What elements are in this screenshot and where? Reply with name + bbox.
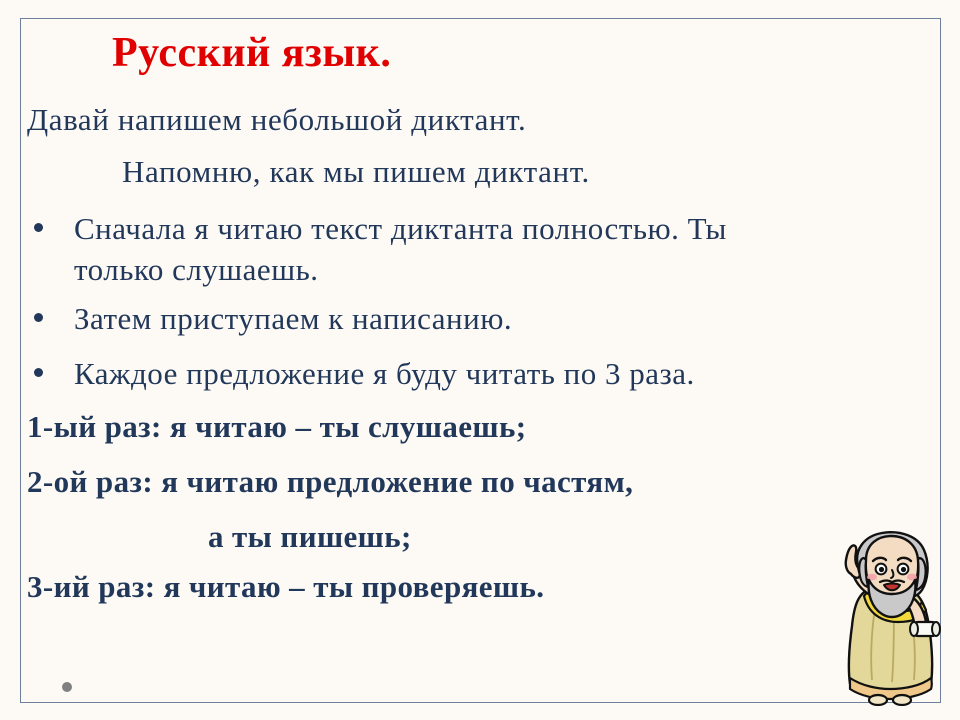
- paragraph-intro: Давай напишем небольшой диктант.: [27, 100, 526, 140]
- list-item-line-2: только слушаешь.: [74, 249, 894, 290]
- bold-line-third-reading: 3-ий раз: я читаю – ты проверяешь.: [27, 567, 544, 607]
- bold-line-second-reading: 2-ой раз: я читаю предложение по частям,: [27, 462, 633, 502]
- page-title: Русский язык.: [112, 28, 391, 78]
- bullet-dot-icon: [34, 368, 43, 377]
- slide-content: Русский язык. Давай напишем небольшой ди…: [0, 0, 960, 720]
- bold-line-second-reading-cont: а ты пишешь;: [208, 517, 412, 557]
- paragraph-reminder: Напомню, как мы пишем диктант.: [122, 152, 590, 192]
- bullet-dot-grey-icon: [62, 682, 72, 692]
- list-item-text: Каждое предложение я буду читать по 3 ра…: [74, 353, 894, 394]
- list-item: Сначала я читаю текст диктанта полностью…: [34, 208, 894, 290]
- bullet-dot-icon: [34, 223, 43, 232]
- philosopher-illustration: [836, 530, 944, 706]
- bullet-dot-icon: [34, 313, 43, 322]
- list-item-line-1: Затем приступаем к написанию.: [74, 298, 894, 339]
- list-item-text: Сначала я читаю текст диктанта полностью…: [74, 208, 894, 290]
- list-item: Затем приступаем к написанию.: [34, 298, 894, 339]
- list-item-text: Затем приступаем к написанию.: [74, 298, 894, 339]
- list-item-line-1: Каждое предложение я буду читать по 3 ра…: [74, 353, 894, 394]
- list-item-line-1: Сначала я читаю текст диктанта полностью…: [74, 208, 894, 249]
- bold-line-first-reading: 1-ый раз: я читаю – ты слушаешь;: [27, 407, 527, 447]
- list-item: Каждое предложение я буду читать по 3 ра…: [34, 353, 894, 394]
- slide-canvas: Русский язык. Давай напишем небольшой ди…: [0, 0, 960, 720]
